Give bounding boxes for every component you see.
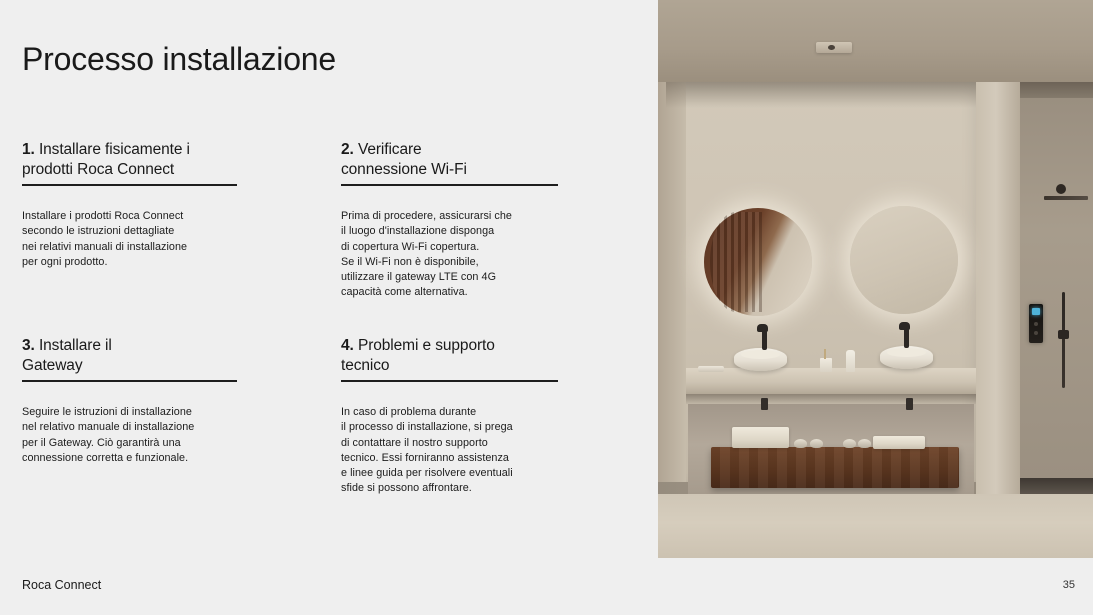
step-body-line: In caso di problema durante bbox=[341, 405, 559, 420]
step-heading-2: 2. Verificare connessione Wi-Fi bbox=[341, 140, 559, 183]
bathroom-photo bbox=[658, 0, 1093, 558]
step-body-line: nel relativo manuale di installazione bbox=[22, 420, 240, 435]
soap-dish bbox=[698, 366, 724, 372]
wall-pillar bbox=[976, 82, 1020, 522]
step-heading-line-3b: Gateway bbox=[22, 357, 82, 374]
step-heading-line-2b: connessione Wi-Fi bbox=[341, 161, 467, 178]
step-body-line: di copertura Wi-Fi copertura. bbox=[341, 240, 559, 255]
slide-root: Processo installazione 1. Installare fis… bbox=[0, 0, 1093, 615]
shower-button-1-icon bbox=[1034, 322, 1038, 326]
alcove-left-wall bbox=[658, 82, 686, 482]
step-item-1: 1. Installare fisicamente i prodotti Roc… bbox=[22, 140, 240, 270]
shower-arm bbox=[1044, 196, 1088, 200]
step-body-line: Prima di procedere, assicurarsi che bbox=[341, 209, 559, 224]
slipper bbox=[858, 439, 871, 448]
step-body-3: Seguire le istruzioni di installazione n… bbox=[22, 405, 240, 466]
step-body-line: secondo le istruzioni dettagliate bbox=[22, 224, 240, 239]
step-item-2: 2. Verificare connessione Wi-Fi Prima di… bbox=[341, 140, 559, 301]
step-item-4: 4. Problemi e supporto tecnico In caso d… bbox=[341, 336, 559, 497]
slipper bbox=[810, 439, 823, 448]
step-number-3: 3. bbox=[22, 337, 35, 354]
step-rule-1 bbox=[22, 184, 237, 186]
step-body-line: Seguire le istruzioni di installazione bbox=[22, 405, 240, 420]
step-heading-line-3a: Installare il bbox=[39, 337, 112, 354]
ceiling-light-icon bbox=[816, 42, 852, 53]
step-body-line: nei relativi manuali di installazione bbox=[22, 240, 240, 255]
washbasin-right bbox=[880, 346, 933, 369]
slipper bbox=[843, 439, 856, 448]
step-body-line: tecnico. Essi forniranno assistenza bbox=[341, 451, 559, 466]
photo-inner bbox=[658, 0, 1093, 558]
towel-hook-right-icon bbox=[906, 398, 913, 410]
dark-floor-strip bbox=[1020, 478, 1093, 494]
toothbrush-cup bbox=[820, 358, 832, 372]
step-number-4: 4. bbox=[341, 337, 354, 354]
footer-brand: Roca Connect bbox=[22, 578, 101, 592]
round-mirror-right bbox=[850, 206, 958, 314]
step-heading-line-1a: Installare fisicamente i bbox=[39, 141, 190, 158]
faucet-right-icon bbox=[904, 326, 909, 348]
step-heading-line-1b: prodotti Roca Connect bbox=[22, 161, 174, 178]
step-body-line: il processo di installazione, si prega bbox=[341, 420, 559, 435]
step-heading-1: 1. Installare fisicamente i prodotti Roc… bbox=[22, 140, 240, 183]
step-body-line: capacità come alternativa. bbox=[341, 285, 559, 300]
step-body-line: Se il Wi-Fi non è disponibile, bbox=[341, 255, 559, 270]
faucet-left-icon bbox=[762, 328, 767, 350]
shower-rail-slider bbox=[1058, 330, 1069, 339]
step-body-line: per ogni prodotto. bbox=[22, 255, 240, 270]
round-mirror-left bbox=[704, 208, 812, 316]
step-body-line: sfide si possono affrontare. bbox=[341, 481, 559, 496]
step-body-line: il luogo d'installazione disponga bbox=[341, 224, 559, 239]
content-pane: Processo installazione 1. Installare fis… bbox=[0, 0, 658, 615]
step-heading-line-4a: Problemi e supporto bbox=[358, 337, 495, 354]
step-body-line: Installare i prodotti Roca Connect bbox=[22, 209, 240, 224]
soap-bottle bbox=[846, 350, 855, 372]
ceiling bbox=[658, 0, 1093, 82]
step-body-1: Installare i prodotti Roca Connect secon… bbox=[22, 209, 240, 270]
slipper bbox=[794, 439, 807, 448]
floor bbox=[658, 494, 1093, 558]
towel-hook-left-icon bbox=[761, 398, 768, 410]
shower-rail bbox=[1062, 292, 1065, 388]
step-body-4: In caso di problema durante il processo … bbox=[341, 405, 559, 497]
washbasin-left bbox=[734, 348, 787, 371]
step-heading-line-2a: Verificare bbox=[358, 141, 422, 158]
step-heading-3: 3. Installare il Gateway bbox=[22, 336, 240, 379]
step-body-line: utilizzare il gateway LTE con 4G bbox=[341, 270, 559, 285]
shower-head-icon bbox=[1056, 184, 1066, 194]
step-body-line: e linee guida per risolvere eventuali bbox=[341, 466, 559, 481]
step-body-line: di contattare il nostro supporto bbox=[341, 436, 559, 451]
step-heading-line-4b: tecnico bbox=[341, 357, 389, 374]
alcove-top-shadow bbox=[666, 82, 976, 108]
step-heading-4: 4. Problemi e supporto tecnico bbox=[341, 336, 559, 379]
step-rule-4 bbox=[341, 380, 558, 382]
countertop-shadow bbox=[686, 394, 976, 404]
folded-towels-right bbox=[873, 436, 925, 449]
step-rule-2 bbox=[341, 184, 558, 186]
back-room bbox=[1020, 98, 1093, 478]
page-number: 35 bbox=[1063, 579, 1075, 591]
step-rule-3 bbox=[22, 380, 237, 382]
step-body-2: Prima di procedere, assicurarsi che il l… bbox=[341, 209, 559, 301]
shower-display-led bbox=[1032, 308, 1040, 315]
folded-towels-left bbox=[732, 427, 789, 448]
step-number-2: 2. bbox=[341, 141, 354, 158]
shower-button-2-icon bbox=[1034, 331, 1038, 335]
step-number-1: 1. bbox=[22, 141, 35, 158]
step-item-3: 3. Installare il Gateway Seguire le istr… bbox=[22, 336, 240, 466]
page-title: Processo installazione bbox=[22, 41, 336, 78]
step-body-line: per il Gateway. Ciò garantirà una bbox=[22, 436, 240, 451]
wooden-bench bbox=[711, 447, 959, 488]
step-body-line: connessione corretta e funzionale. bbox=[22, 451, 240, 466]
digital-shower-panel bbox=[1029, 304, 1043, 343]
